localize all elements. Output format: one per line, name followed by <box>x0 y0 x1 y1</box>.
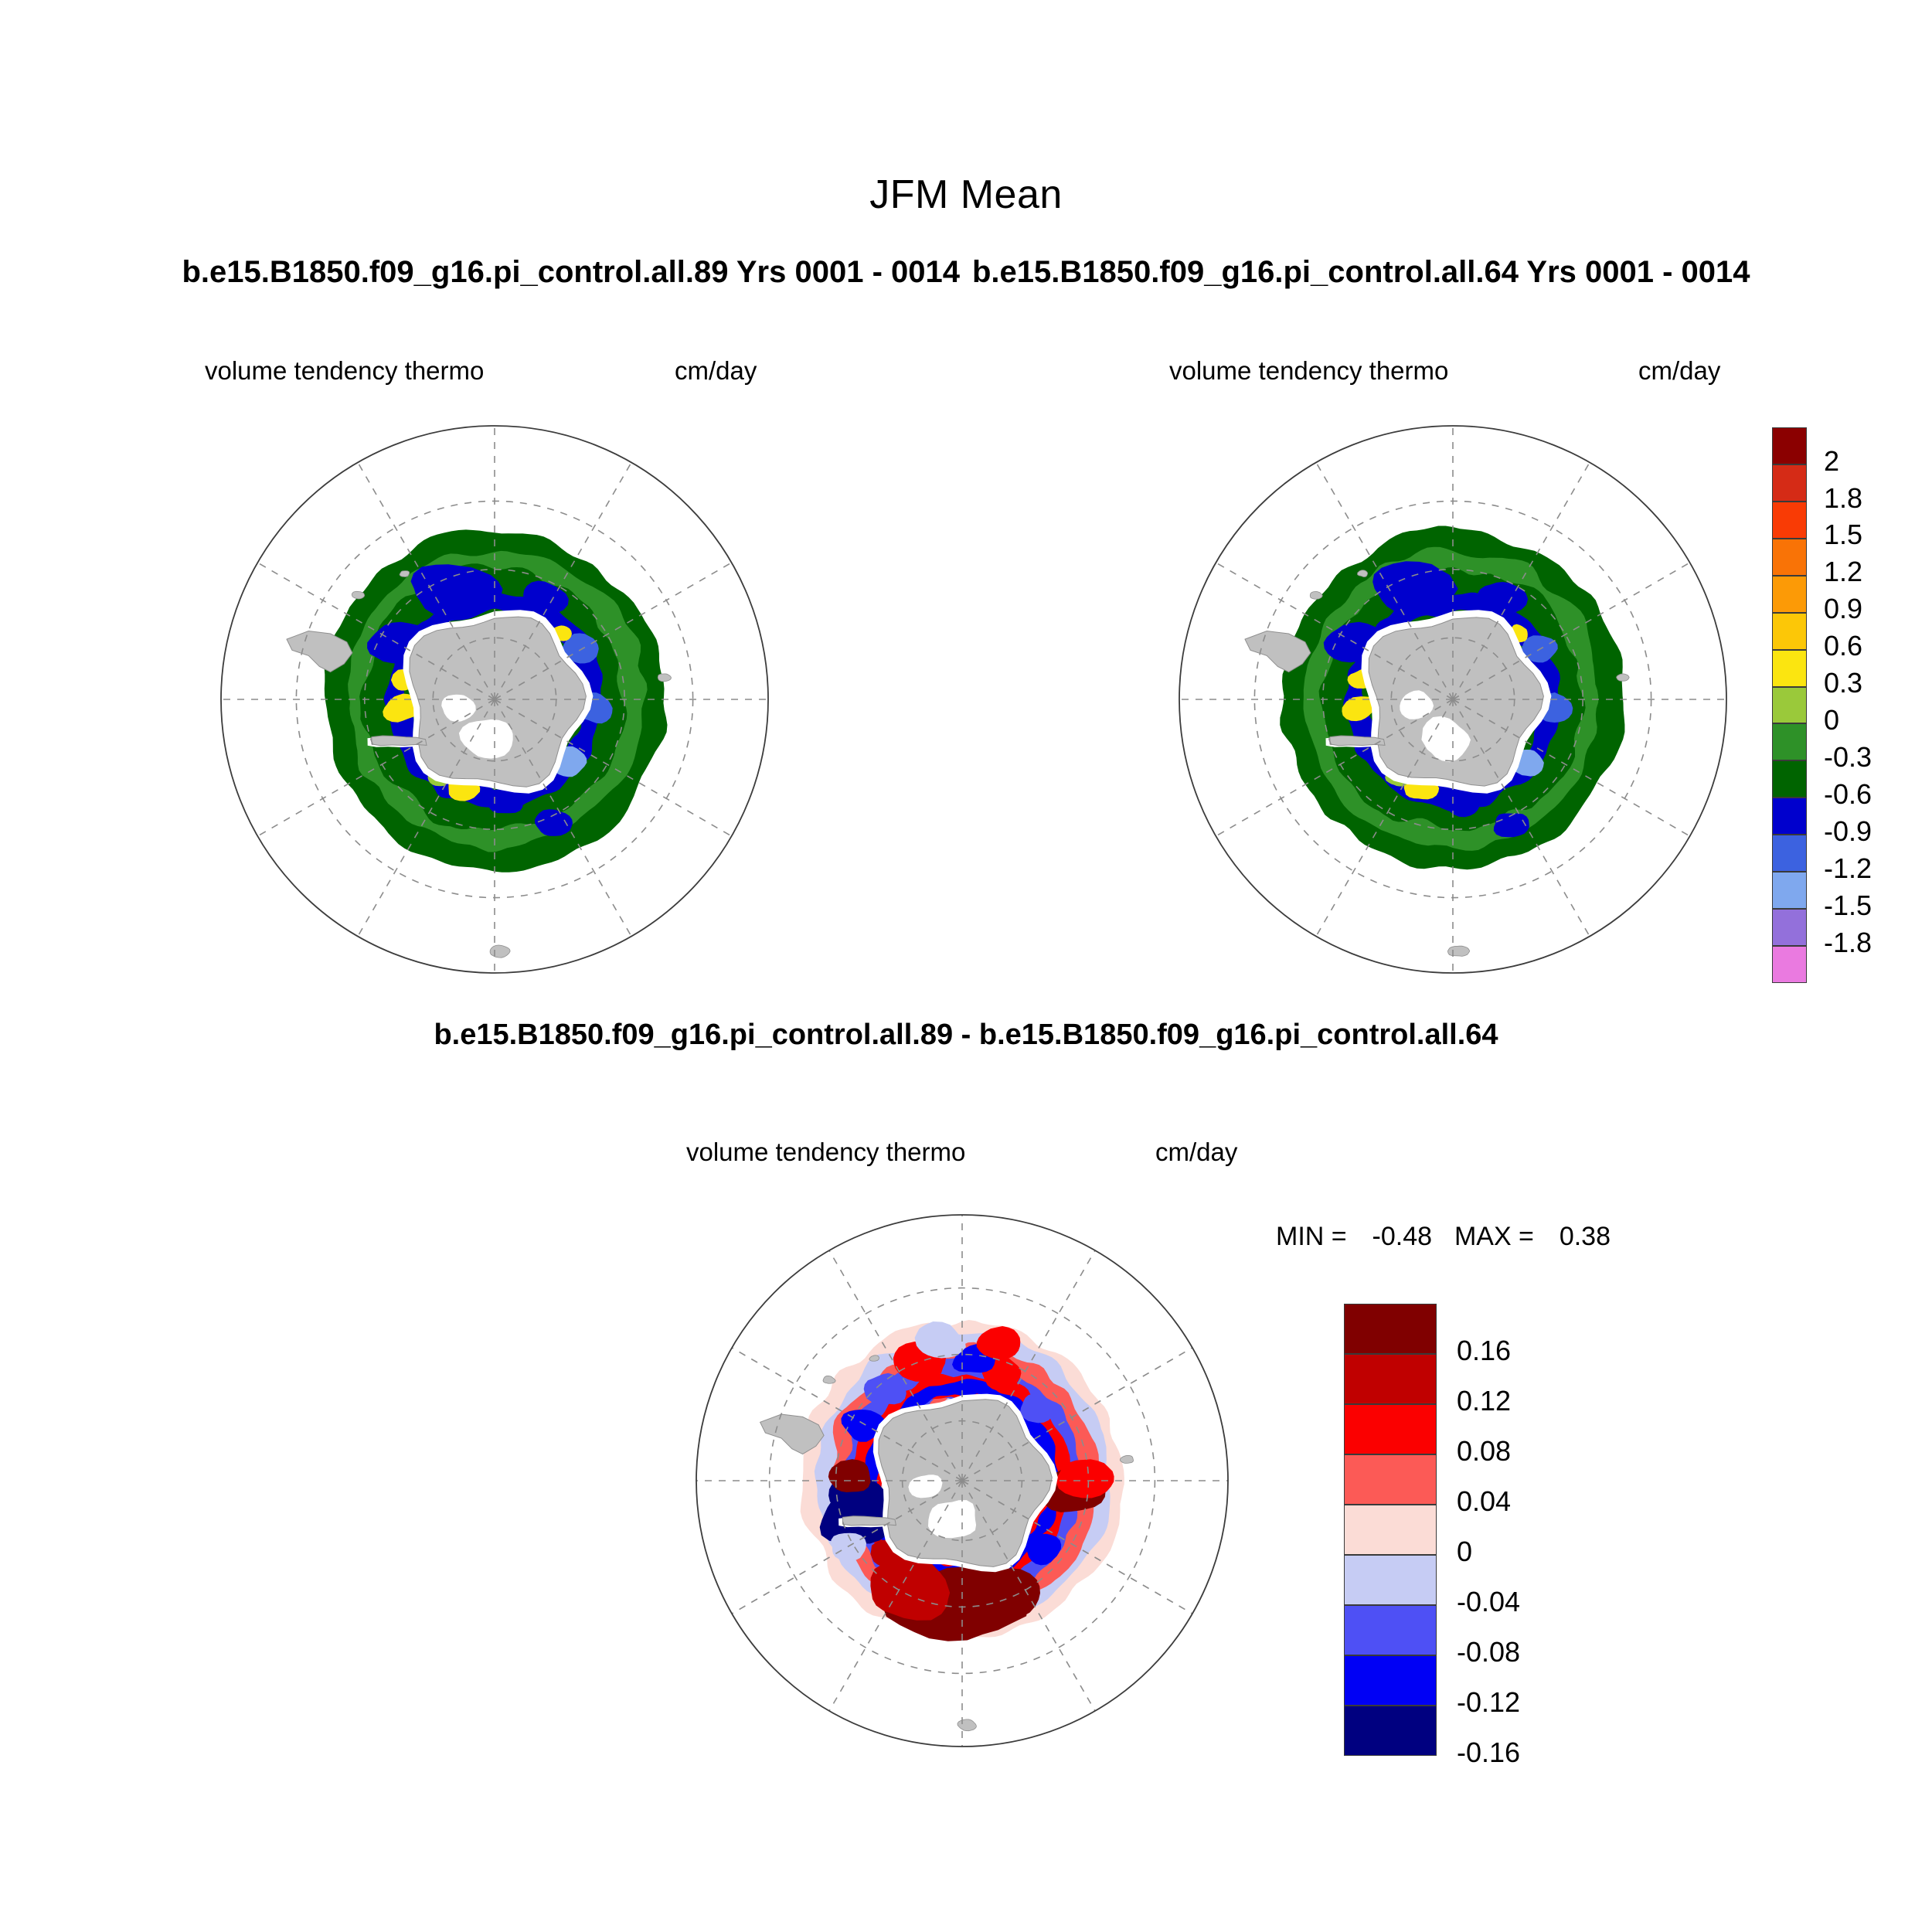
colorbar-tick-label: 0.16 <box>1457 1337 1580 1365</box>
colorbar-tick-label: 1.2 <box>1824 558 1932 586</box>
colorbar-band <box>1344 1304 1437 1354</box>
case-header: b.e15.B1850.f09_g16.pi_control.all.89 Yr… <box>0 255 1932 290</box>
colorbar-band <box>1344 1555 1437 1605</box>
panel-difference-variable-label: volume tendency thermo <box>686 1138 965 1167</box>
island <box>957 1719 976 1731</box>
panel-difference-units-label: cm/day <box>1155 1138 1237 1167</box>
colorbar-tick-label: -0.04 <box>1457 1588 1580 1616</box>
colorbar-tick-label: -0.08 <box>1457 1638 1580 1666</box>
colorbar-tick-label: 0 <box>1824 706 1932 734</box>
colorbar-tick-label: 1.8 <box>1824 485 1932 512</box>
panel-top-left-units-label: cm/day <box>675 356 757 386</box>
colorbar-band <box>1344 1454 1437 1505</box>
colorbar-band <box>1772 427 1807 464</box>
max-value: 0.38 <box>1560 1222 1611 1251</box>
difference-panel-title: b.e15.B1850.f09_g16.pi_control.all.89 - … <box>0 1019 1932 1052</box>
colorbar-band <box>1344 1404 1437 1454</box>
colorbar-tick-label: -1.5 <box>1824 892 1932 920</box>
colorbar-tick-label: -1.2 <box>1824 855 1932 883</box>
colorbar-band <box>1772 502 1807 539</box>
island <box>400 571 410 577</box>
panel-top-right-units-label: cm/day <box>1638 356 1720 386</box>
colorbar-band <box>1772 576 1807 613</box>
colorbar-tick-label: -0.12 <box>1457 1689 1580 1716</box>
contour-blob <box>1494 814 1529 838</box>
colorbar-tick-label: 0.9 <box>1824 595 1932 623</box>
polar-map-svg <box>216 421 773 978</box>
panel-top-left-variable-label: volume tendency thermo <box>205 356 484 386</box>
colorbar-band <box>1772 539 1807 576</box>
island <box>352 591 364 599</box>
colorbar-tick-label: 1.5 <box>1824 521 1932 549</box>
colorbar-band <box>1772 909 1807 946</box>
colorbar-tick-label: -0.6 <box>1824 781 1932 808</box>
colorbar-tick-label: -0.3 <box>1824 743 1932 771</box>
case-label-right: b.e15.B1850.f09_g16.pi_control.all.64 Yr… <box>972 255 1750 289</box>
island <box>1617 674 1630 681</box>
polar-map-svg <box>692 1210 1233 1751</box>
colorbar-tick-label: 0.6 <box>1824 632 1932 660</box>
colorbar-band <box>1772 650 1807 687</box>
max-label: MAX = <box>1454 1222 1534 1251</box>
min-max-readout: MIN = -0.48 MAX = 0.38 <box>1276 1222 1611 1252</box>
colorbar-band <box>1772 872 1807 909</box>
island <box>490 945 510 957</box>
min-label: MIN = <box>1276 1222 1347 1251</box>
page-title: JFM Mean <box>0 172 1932 218</box>
island <box>1310 591 1322 599</box>
colorbar-band <box>1772 946 1807 983</box>
colorbar-tick-label: 2 <box>1824 447 1932 475</box>
colorbar-band <box>1772 760 1807 798</box>
colorbar-band <box>1772 798 1807 835</box>
colorbar-tick-label: 0.04 <box>1457 1488 1580 1515</box>
colorbar-difference[interactable] <box>1344 1304 1437 1756</box>
colorbar-band <box>1772 687 1807 724</box>
graticule <box>1179 426 1726 973</box>
colorbar-band <box>1344 1354 1437 1404</box>
colorbar-tick-label: -0.9 <box>1824 818 1932 845</box>
graticule <box>696 1215 1228 1747</box>
colorbar-tick-label: 0.3 <box>1824 669 1932 697</box>
colorbar-band <box>1344 1706 1437 1756</box>
colorbar-tick-label: -1.8 <box>1824 929 1932 957</box>
panel-top-right-variable-label: volume tendency thermo <box>1169 356 1448 386</box>
polar-map-svg <box>1175 421 1731 978</box>
map-panel-top-right[interactable] <box>1175 421 1731 978</box>
colorbar-band <box>1772 613 1807 650</box>
map-panel-top-left[interactable] <box>216 421 773 978</box>
colorbar-tick-label: 0.12 <box>1457 1387 1580 1415</box>
colorbar-tick-label: 0 <box>1457 1538 1580 1566</box>
colorbar-band <box>1344 1605 1437 1655</box>
graticule <box>221 426 768 973</box>
colorbar-main[interactable] <box>1772 427 1807 983</box>
colorbar-band <box>1772 723 1807 760</box>
colorbar-band <box>1772 835 1807 872</box>
island <box>1120 1455 1133 1463</box>
island <box>658 674 671 682</box>
colorbar-band <box>1344 1505 1437 1555</box>
island <box>1447 946 1469 956</box>
colorbar-tick-label: 0.08 <box>1457 1437 1580 1465</box>
colorbar-band <box>1772 464 1807 502</box>
colorbar-band <box>1344 1655 1437 1706</box>
colorbar-tick-label: -0.16 <box>1457 1739 1580 1767</box>
island <box>823 1376 835 1383</box>
figure-canvas: JFM Mean b.e15.B1850.f09_g16.pi_control.… <box>0 0 1932 1932</box>
map-panel-difference[interactable] <box>692 1210 1233 1751</box>
case-label-left: b.e15.B1850.f09_g16.pi_control.all.89 Yr… <box>182 255 960 289</box>
min-value: -0.48 <box>1372 1222 1433 1251</box>
